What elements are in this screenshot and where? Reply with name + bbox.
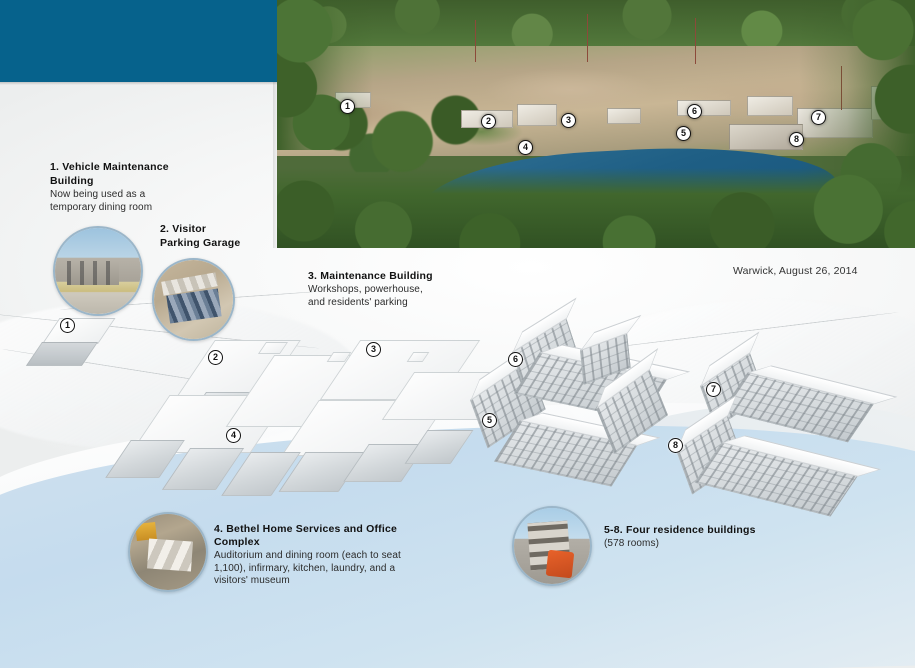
caption-subtitle-line-1: Now being used as a xyxy=(50,189,195,202)
aerial-forest-foreground xyxy=(277,168,915,248)
aerial-structure xyxy=(747,96,793,116)
photo-marker-7[interactable]: 7 xyxy=(811,110,826,125)
caption-title: 4. Bethel Home Services and Office Compl… xyxy=(214,523,444,549)
photo-marker-5[interactable]: 5 xyxy=(676,126,691,141)
caption-subtitle-line-3: visitors' museum xyxy=(214,575,444,588)
aerial-structure xyxy=(517,104,557,126)
caption-residence-buildings: 5-8. Four residence buildings (578 rooms… xyxy=(604,524,804,551)
aerial-crane xyxy=(695,18,696,64)
aerial-crane xyxy=(475,20,476,62)
map-marker-8[interactable]: 8 xyxy=(668,438,683,453)
caption-subtitle-line-2: and residents' parking xyxy=(308,297,478,310)
caption-subtitle-line-2: 1,100), infirmary, kitchen, laundry, and… xyxy=(214,563,444,576)
header-accent-bar xyxy=(0,0,277,82)
caption-subtitle-line-1: Auditorium and dining room (each to seat xyxy=(214,550,444,563)
caption-title-line-2: Building xyxy=(50,175,195,188)
photo-marker-2[interactable]: 2 xyxy=(481,114,496,129)
residence-building-photo[interactable] xyxy=(512,506,592,586)
map-marker-3[interactable]: 3 xyxy=(366,342,381,357)
map-marker-6[interactable]: 6 xyxy=(508,352,523,367)
photo-marker-1[interactable]: 1 xyxy=(340,99,355,114)
caption-title-line-1: 2. Visitor xyxy=(160,223,290,236)
caption-subtitle-line-1: Workshops, powerhouse, xyxy=(308,284,478,297)
caption-title-line-1: 1. Vehicle Maintenance xyxy=(50,161,195,174)
aerial-structure xyxy=(677,100,731,116)
map-marker-2[interactable]: 2 xyxy=(208,350,223,365)
site-plan-infographic: 1 2 3 4 5 6 7 8 1 2 3 4 5 6 7 8 xyxy=(0,0,915,668)
inset-photo-image xyxy=(514,508,590,584)
aerial-forest-left xyxy=(277,0,373,150)
caption-subtitle: (578 rooms) xyxy=(604,538,804,551)
caption-title: 3. Maintenance Building xyxy=(308,270,478,283)
caption-maintenance-building: 3. Maintenance Building Workshops, power… xyxy=(308,270,478,309)
inset-photo-image xyxy=(154,260,233,339)
aerial-crane xyxy=(587,14,588,62)
header-accent-bar-shadow xyxy=(0,82,277,85)
caption-visitor-parking: 2. Visitor Parking Garage xyxy=(160,223,290,251)
photo-marker-4[interactable]: 4 xyxy=(518,140,533,155)
aerial-structure xyxy=(607,108,641,124)
map-marker-5[interactable]: 5 xyxy=(482,413,497,428)
caption-subtitle-line-2: temporary dining room xyxy=(50,202,195,215)
bethel-home-services-photo[interactable] xyxy=(128,512,208,592)
map-marker-4[interactable]: 4 xyxy=(226,428,241,443)
caption-bethel-home-services: 4. Bethel Home Services and Office Compl… xyxy=(214,523,444,588)
caption-title-line-2: Parking Garage xyxy=(160,237,290,250)
date-location-stamp: Warwick, August 26, 2014 xyxy=(733,265,858,277)
inset-photo-image xyxy=(55,228,141,314)
map-marker-1[interactable]: 1 xyxy=(60,318,75,333)
vehicle-maintenance-building-photo[interactable] xyxy=(53,226,143,316)
photo-marker-3[interactable]: 3 xyxy=(561,113,576,128)
caption-vehicle-maintenance: 1. Vehicle Maintenance Building Now bein… xyxy=(50,161,195,214)
inset-photo-image xyxy=(130,514,206,590)
visitor-parking-garage-photo[interactable] xyxy=(152,258,235,341)
map-marker-7[interactable]: 7 xyxy=(706,382,721,397)
photo-marker-6[interactable]: 6 xyxy=(687,104,702,119)
photo-marker-8[interactable]: 8 xyxy=(789,132,804,147)
caption-title: 5-8. Four residence buildings xyxy=(604,524,804,537)
